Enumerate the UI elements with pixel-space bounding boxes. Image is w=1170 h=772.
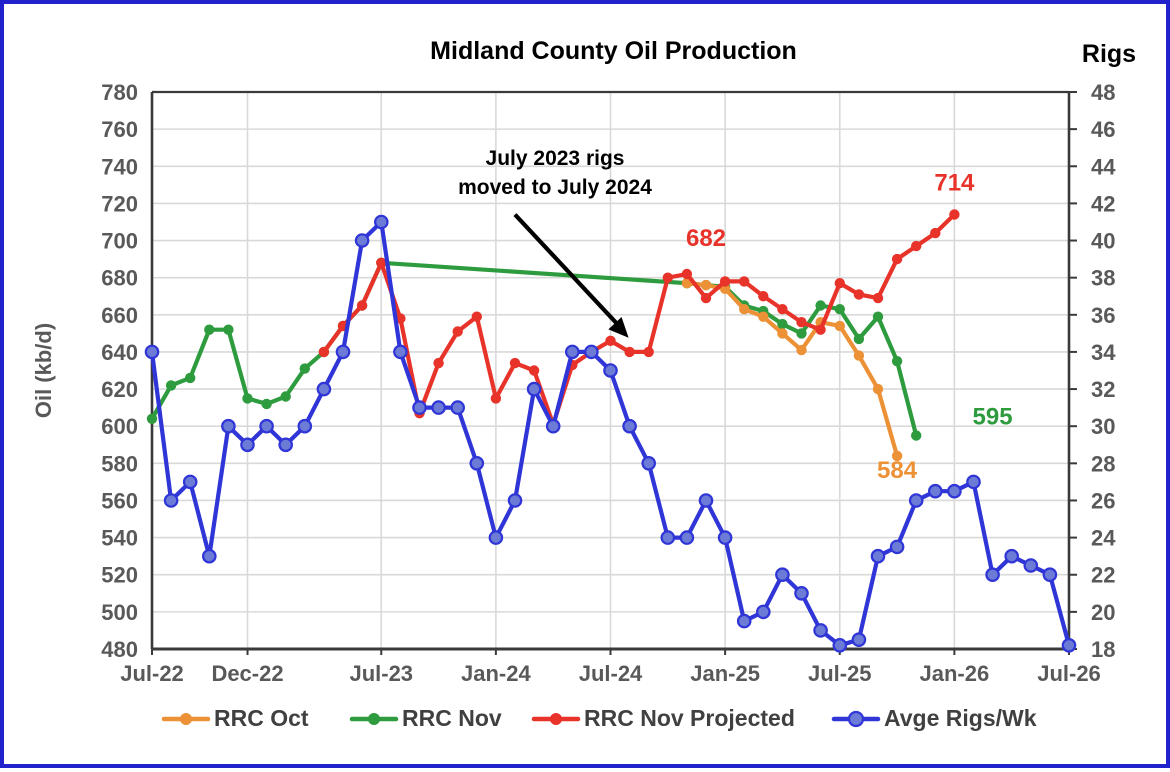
data-label-584: 584	[877, 457, 918, 484]
x-axis-tick-label: Jul-24	[579, 661, 643, 686]
data-label-682: 682	[686, 225, 726, 252]
data-point	[910, 494, 922, 506]
data-point	[509, 494, 521, 506]
y-axis-tick-label: 560	[101, 488, 138, 513]
x-axis-tick-label: Jul-22	[120, 661, 184, 686]
data-point	[433, 358, 443, 368]
data-point	[165, 494, 177, 506]
data-point	[413, 401, 425, 413]
data-point	[948, 485, 960, 497]
data-point	[337, 346, 349, 358]
data-point	[281, 391, 291, 401]
data-point	[261, 399, 271, 409]
data-point	[701, 280, 711, 290]
data-label-714: 714	[934, 169, 975, 196]
data-point	[930, 228, 940, 238]
legend-label-avge-rigs-wk[interactable]: Avge Rigs/Wk	[884, 705, 1037, 731]
data-point	[491, 393, 501, 403]
data-point	[510, 358, 520, 368]
series-line	[324, 215, 955, 425]
data-point	[986, 569, 998, 581]
data-point	[605, 336, 615, 346]
y-axis-tick-label: 520	[101, 563, 138, 588]
y-axis-tick-label: 660	[101, 303, 138, 328]
legend-label-rrc-oct[interactable]: RRC Oct	[214, 705, 309, 731]
data-point	[528, 383, 540, 395]
annotation-text-line2: moved to July 2024	[458, 176, 652, 199]
data-point	[701, 293, 711, 303]
data-point	[1044, 569, 1056, 581]
y2-axis-title: Rigs	[1082, 40, 1136, 68]
data-point	[796, 317, 806, 327]
data-point	[873, 384, 883, 394]
data-point	[452, 401, 464, 413]
legend-label-rrc-nov[interactable]: RRC Nov	[402, 705, 502, 731]
x-axis-tick-label: Dec-22	[211, 661, 283, 686]
data-point	[757, 606, 769, 618]
data-point	[796, 328, 806, 338]
y2-axis-tick-label: 38	[1091, 266, 1115, 291]
series-rrc-oct	[682, 278, 903, 461]
data-point	[643, 457, 655, 469]
data-point	[356, 234, 368, 246]
data-point	[147, 414, 157, 424]
data-point	[662, 531, 674, 543]
data-point	[891, 541, 903, 553]
legend-marker-dot	[180, 713, 192, 725]
data-point	[911, 241, 921, 251]
y-axis-tick-label: 600	[101, 414, 138, 439]
data-point	[854, 289, 864, 299]
data-point	[854, 350, 864, 360]
data-point	[814, 624, 826, 636]
data-point	[682, 269, 692, 279]
chart-canvas: 4805005205405605806006206406606807007207…	[4, 4, 1170, 772]
y2-axis-tick-label: 32	[1091, 377, 1115, 402]
y2-axis-tick-label: 22	[1091, 563, 1115, 588]
y2-axis-tick-label: 46	[1091, 117, 1115, 142]
y2-axis-tick-label: 24	[1091, 526, 1116, 551]
legend-marker-dot	[550, 713, 562, 725]
y2-axis-tick-label: 28	[1091, 451, 1115, 476]
data-point	[490, 531, 502, 543]
data-point	[681, 531, 693, 543]
data-point	[796, 345, 806, 355]
y-axis-tick-label: 620	[101, 377, 138, 402]
data-point	[777, 304, 787, 314]
data-point	[929, 485, 941, 497]
y-axis-tick-label: 740	[101, 154, 138, 179]
data-point	[242, 393, 252, 403]
data-point	[815, 325, 825, 335]
data-point	[892, 254, 902, 264]
data-point	[472, 312, 482, 322]
data-point	[663, 273, 673, 283]
data-point	[835, 278, 845, 288]
y-axis-tick-label: 680	[101, 266, 138, 291]
data-point	[166, 380, 176, 390]
data-point	[394, 346, 406, 358]
legend-marker-dot	[368, 713, 380, 725]
data-point	[834, 639, 846, 651]
data-point	[566, 346, 578, 358]
data-point	[892, 356, 902, 366]
data-point	[967, 476, 979, 488]
y2-axis-tick-label: 48	[1091, 80, 1115, 105]
data-point	[644, 347, 654, 357]
data-point	[815, 300, 825, 310]
data-point	[777, 328, 787, 338]
data-point	[185, 373, 195, 383]
y2-axis-tick-label: 18	[1091, 637, 1115, 662]
y-axis-tick-label: 640	[101, 340, 138, 365]
data-point	[432, 401, 444, 413]
data-point	[1006, 550, 1018, 562]
data-point	[873, 293, 883, 303]
y2-axis-tick-label: 40	[1091, 229, 1115, 254]
y2-axis-tick-label: 20	[1091, 600, 1115, 625]
x-axis-tick-label: Jul-26	[1037, 661, 1101, 686]
x-axis-tick-label: Jan-24	[461, 661, 531, 686]
data-point	[1063, 639, 1075, 651]
data-point	[911, 430, 921, 440]
data-point	[738, 615, 750, 627]
data-point	[795, 587, 807, 599]
data-point	[585, 346, 597, 358]
data-point	[700, 494, 712, 506]
data-point	[471, 457, 483, 469]
data-point	[146, 346, 158, 358]
data-point	[739, 304, 749, 314]
x-axis-tick-label: Jul-25	[808, 661, 872, 686]
y2-axis-tick-label: 36	[1091, 303, 1115, 328]
annotation: July 2023 rigsmoved to July 2024	[458, 147, 652, 338]
data-point	[776, 569, 788, 581]
data-point	[300, 363, 310, 373]
data-point	[203, 550, 215, 562]
data-point	[854, 334, 864, 344]
chart-frame: 4805005205405605806006206406606807007207…	[0, 0, 1170, 768]
y2-axis-tick-label: 26	[1091, 488, 1115, 513]
data-point	[453, 326, 463, 336]
data-point	[318, 383, 330, 395]
data-point	[623, 420, 635, 432]
y2-axis-tick-label: 30	[1091, 414, 1115, 439]
data-point	[758, 312, 768, 322]
chart-title: Midland County Oil Production	[430, 37, 797, 65]
data-point	[949, 209, 959, 219]
data-point	[184, 476, 196, 488]
y-axis-tick-label: 700	[101, 229, 138, 254]
legend: RRC OctRRC NovRRC Nov ProjectedAvge Rigs…	[164, 705, 1037, 731]
data-point	[853, 634, 865, 646]
x-axis-tick-label: Jan-26	[920, 661, 990, 686]
legend-marker-dot	[849, 712, 863, 726]
data-point	[547, 420, 559, 432]
data-point	[222, 420, 234, 432]
data-point	[872, 550, 884, 562]
data-point	[260, 420, 272, 432]
data-point	[280, 439, 292, 451]
data-point	[604, 364, 616, 376]
y-axis-tick-label: 580	[101, 451, 138, 476]
data-point	[720, 276, 730, 286]
data-label-595: 595	[973, 403, 1013, 430]
y-axis-title: Oil (kb/d)	[31, 323, 56, 418]
data-point	[873, 312, 883, 322]
data-point	[299, 420, 311, 432]
y-axis-tick-label: 780	[101, 80, 138, 105]
data-point	[223, 325, 233, 335]
y-axis-tick-label: 540	[101, 526, 138, 551]
data-point	[624, 347, 634, 357]
data-point	[375, 216, 387, 228]
y2-axis-tick-label: 34	[1091, 340, 1116, 365]
data-point	[835, 304, 845, 314]
y2-axis-tick-label: 42	[1091, 191, 1115, 216]
data-point	[319, 347, 329, 357]
data-point	[529, 365, 539, 375]
y-axis-tick-label: 500	[101, 600, 138, 625]
data-point	[739, 276, 749, 286]
y2-axis-tick-label: 44	[1091, 154, 1116, 179]
data-point	[835, 321, 845, 331]
data-point	[719, 531, 731, 543]
y-axis-tick-label: 480	[101, 637, 138, 662]
series-line	[687, 283, 897, 456]
annotation-text-line1: July 2023 rigs	[486, 147, 625, 170]
data-point	[357, 300, 367, 310]
x-axis-tick-label: Jul-23	[349, 661, 413, 686]
y-axis-tick-label: 720	[101, 191, 138, 216]
data-point	[204, 325, 214, 335]
y-axis-tick-label: 760	[101, 117, 138, 142]
x-axis-tick-label: Jan-25	[690, 661, 760, 686]
data-point	[1025, 559, 1037, 571]
data-point	[241, 439, 253, 451]
chart-svg: 4805005205405605806006206406606807007207…	[4, 4, 1170, 772]
data-point	[758, 291, 768, 301]
legend-label-rrc-nov-projected[interactable]: RRC Nov Projected	[584, 705, 795, 731]
